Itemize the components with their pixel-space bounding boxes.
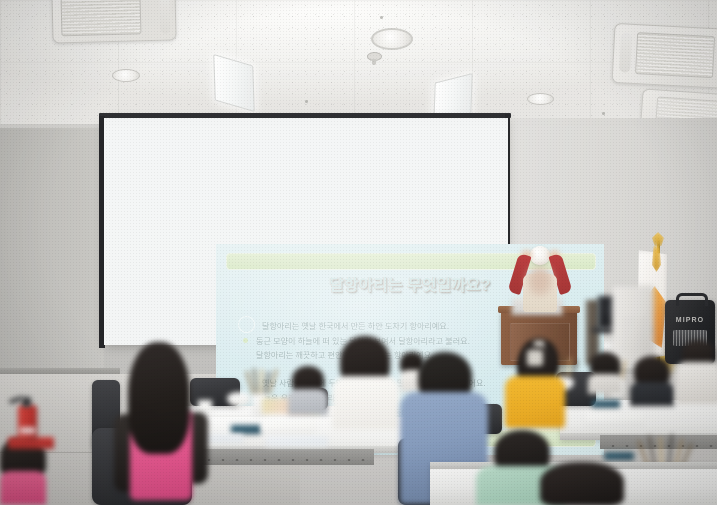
ceiling-fixture-dot [602,112,605,115]
slide-circle-decoration [238,316,255,333]
paint-palette [592,400,620,408]
paper-towel [266,436,328,446]
table-apron-perforation [196,449,374,465]
moon-jar-held [530,246,550,265]
speaker-brand-label: MIPRO [665,317,715,324]
instructor [497,250,583,312]
participant-hair [540,462,624,505]
ceiling-fixture-dot [305,100,308,103]
projection-screen: 달항아리는 무엇일까요? 달항아리는 옛날 한국에서 만든 하얀 도자기 항아리… [104,118,508,345]
participant-child [106,342,216,505]
participant-child [288,366,328,414]
sprinkler-head-icon [367,52,382,61]
ac-air-slot [159,0,170,34]
worksheet [586,412,644,424]
fire-extinguisher [18,405,37,440]
slide-dot-decoration [243,338,248,343]
speaker-handle [676,293,708,306]
hair-clip-icon [527,350,543,366]
worksheet [262,420,316,432]
fire-extinguisher-label [20,427,35,434]
participant-adult [676,340,717,404]
participant-vest [505,376,565,428]
participant-adult [588,352,622,392]
participant-shirt [288,389,328,415]
recessed-downlight-icon [527,93,554,105]
participant-shirt [676,362,717,404]
participant-shirt [588,374,622,394]
participant-hair [128,342,190,454]
table-apron [196,449,374,465]
ceiling-ac-vent-left [51,0,176,44]
participant-shirt [332,376,400,430]
instructor-head-blurred [528,267,552,295]
paint-palette [604,452,634,460]
ac-grille-icon [61,0,142,36]
participant-adult [505,346,567,426]
fire-extinguisher-valve [22,397,31,407]
participant-child [630,356,674,404]
ac-air-slot [619,32,632,73]
recessed-downlight-icon [371,28,413,50]
ceiling-fixture-dot [380,16,383,19]
participant-shirt [0,471,46,505]
ac-grille-icon [635,32,715,78]
recessed-downlight-icon [112,69,140,82]
participant-adult [330,336,402,428]
left-wall [0,128,104,380]
participant-child [540,462,624,505]
paint-brushes [248,368,274,394]
av-cabinet-vent [622,316,647,350]
participant-shirt [630,382,674,406]
classroom-photo-scene: 달항아리는 무엇일까요? 달항아리는 옛날 한국에서 만든 하얀 도자기 항아리… [0,0,717,505]
ceiling-ac-vent-right [612,23,717,89]
paint-palette [231,425,261,434]
